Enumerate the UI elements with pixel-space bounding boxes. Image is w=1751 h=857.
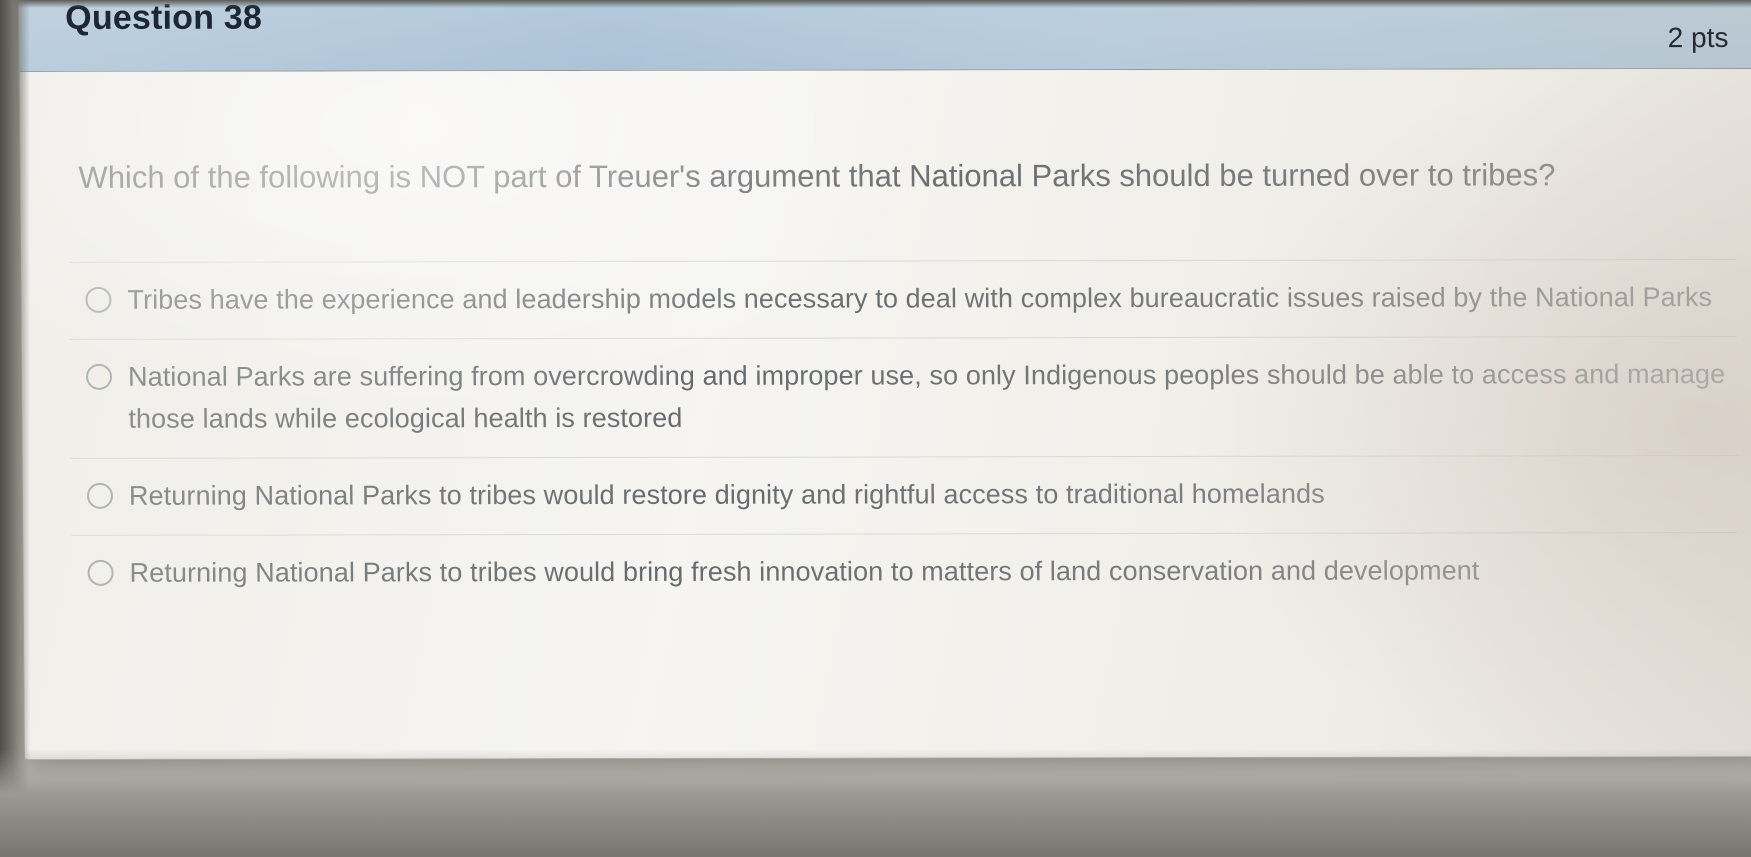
photo-backdrop: Question 38 2 pts Which of the following… xyxy=(0,0,1751,857)
question-title: Question 38 xyxy=(65,0,262,38)
question-body: Which of the following is NOT part of Tr… xyxy=(20,69,1751,760)
answer-options-list: Tribes have the experience and leadershi… xyxy=(21,259,1751,613)
radio-unchecked-icon[interactable] xyxy=(86,364,112,390)
question-card: Question 38 2 pts Which of the following… xyxy=(18,0,1751,760)
answer-option-d[interactable]: Returning National Parks to tribes would… xyxy=(71,532,1739,612)
question-header: Question 38 2 pts xyxy=(19,0,1751,72)
answer-option-c[interactable]: Returning National Parks to tribes would… xyxy=(71,455,1739,535)
answer-option-a-label: Tribes have the experience and leadershi… xyxy=(127,276,1712,321)
radio-unchecked-icon[interactable] xyxy=(85,287,111,313)
answer-option-a[interactable]: Tribes have the experience and leadershi… xyxy=(69,259,1737,339)
answer-option-b-label: National Parks are suffering from overcr… xyxy=(128,353,1728,440)
radio-unchecked-icon[interactable] xyxy=(87,483,113,509)
answer-option-b[interactable]: National Parks are suffering from overcr… xyxy=(70,336,1738,458)
answer-option-c-label: Returning National Parks to tribes would… xyxy=(129,473,1325,517)
radio-unchecked-icon[interactable] xyxy=(87,560,113,586)
question-points-badge: 2 pts xyxy=(1668,22,1729,54)
question-prompt: Which of the following is NOT part of Tr… xyxy=(20,69,1737,200)
photo-edge-bottom xyxy=(0,749,1751,857)
answer-option-d-label: Returning National Parks to tribes would… xyxy=(129,550,1479,594)
